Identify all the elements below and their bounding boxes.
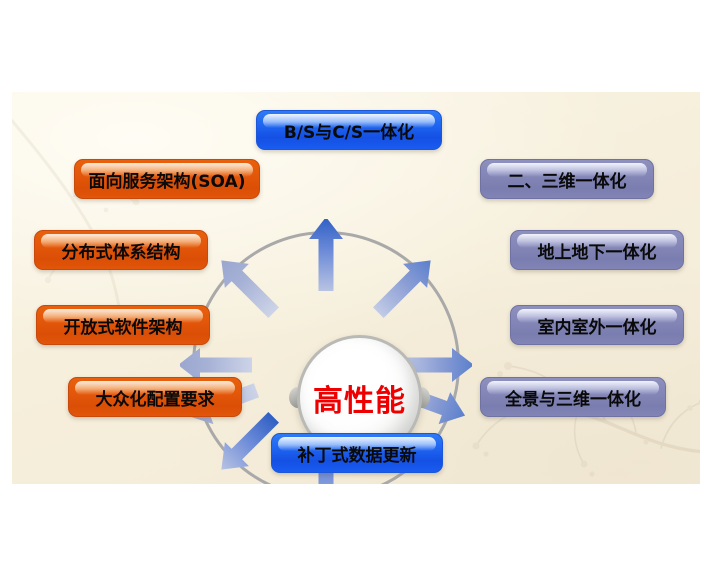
node-mass-config[interactable]: 大众化配置要求 (68, 377, 242, 417)
node-pano-3d[interactable]: 全景与三维一体化 (480, 377, 666, 417)
node-label: 地上地下一体化 (538, 238, 657, 263)
node-label: 室内室外一体化 (538, 313, 657, 338)
node-patch-update[interactable]: 补丁式数据更新 (271, 433, 443, 473)
node-label: 全景与三维一体化 (505, 385, 641, 410)
slide-canvas-root: 高性能 B/S与C/S一体化 补丁式数据更新 面向服务架构(SOA) 分布式体系… (0, 0, 712, 576)
node-label: 大众化配置要求 (96, 385, 215, 410)
presentation-slide: 高性能 B/S与C/S一体化 补丁式数据更新 面向服务架构(SOA) 分布式体系… (12, 92, 700, 484)
node-in-out[interactable]: 室内室外一体化 (510, 305, 684, 345)
node-label: 分布式体系结构 (62, 238, 181, 263)
node-soa[interactable]: 面向服务架构(SOA) (74, 159, 260, 199)
node-label: 面向服务架构(SOA) (89, 167, 246, 192)
node-distributed[interactable]: 分布式体系结构 (34, 230, 208, 270)
node-above-below[interactable]: 地上地下一体化 (510, 230, 684, 270)
node-2d3d[interactable]: 二、三维一体化 (480, 159, 654, 199)
node-bs-cs[interactable]: B/S与C/S一体化 (256, 110, 442, 150)
node-label: 二、三维一体化 (508, 167, 627, 192)
node-open-arch[interactable]: 开放式软件架构 (36, 305, 210, 345)
node-label: B/S与C/S一体化 (284, 118, 414, 143)
node-label: 补丁式数据更新 (298, 441, 417, 466)
node-label: 开放式软件架构 (64, 313, 183, 338)
arrow-n (309, 219, 343, 291)
center-label: 高性能 (313, 376, 406, 420)
